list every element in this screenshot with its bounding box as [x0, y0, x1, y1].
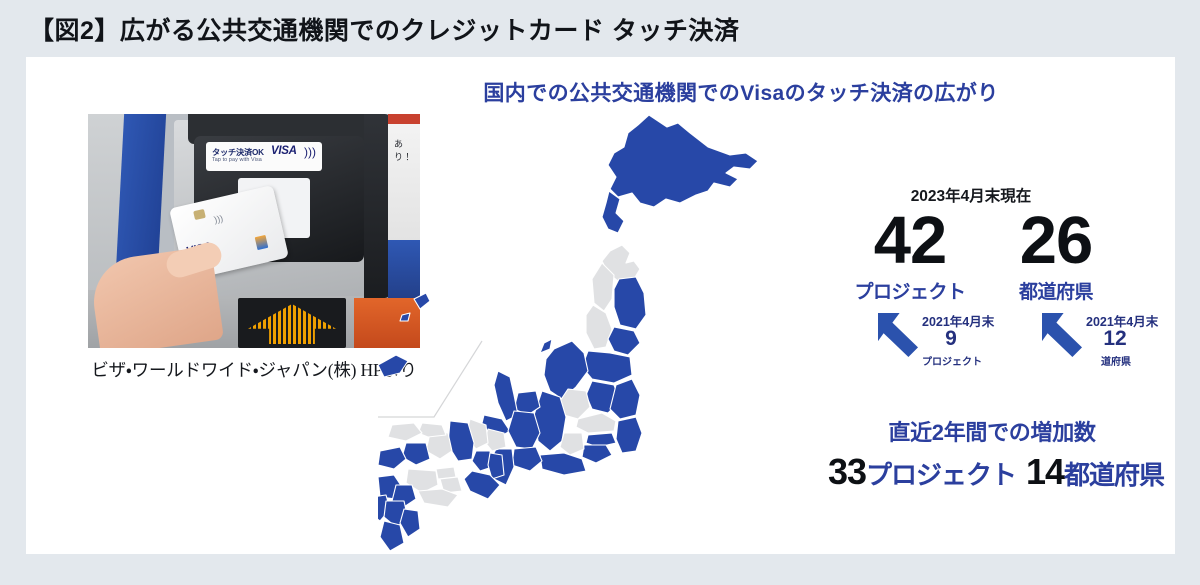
- growth-summary: 直近2年間での増加数 33プロジェクト14都道府県: [826, 415, 1166, 493]
- growth-arrow-icon: [878, 313, 918, 357]
- map-region-saitama: [576, 413, 616, 433]
- map-region-yamaguchi: [378, 447, 406, 469]
- japan-map-svg: [378, 103, 808, 553]
- baseline-projects-value: 9: [922, 327, 980, 351]
- map-region-yamanashi: [560, 433, 584, 455]
- map-region-miyazaki: [400, 509, 420, 537]
- map-region-kanagawa: [582, 445, 612, 463]
- stat-prefectures: 26 都道府県: [988, 207, 1124, 304]
- figure-card: 国内での公共交通機関でのVisaのタッチ決済の広がり タッチ決済OK Tap t…: [26, 57, 1175, 554]
- contactless-wave-icon: ))): [304, 145, 316, 159]
- baseline-prefectures-group: 2021年4月末 12 道府県: [1042, 311, 1194, 383]
- growth-projects-unit: プロジェクト: [866, 460, 1016, 490]
- baseline-projects-group: 2021年4月末 9 プロジェクト: [878, 311, 1030, 383]
- stat-projects-value: 42: [842, 207, 978, 275]
- map-region-gifu: [508, 411, 540, 449]
- map-region-hiroshima: [402, 443, 430, 465]
- map-region-yamagata: [586, 305, 612, 349]
- japan-map: [378, 103, 808, 553]
- growth-arrow-icon: [1042, 313, 1082, 357]
- map-region-hokkaido-south: [602, 191, 624, 233]
- growth-summary-title: 直近2年間での増加数: [826, 415, 1158, 447]
- map-region-fukushima: [582, 351, 632, 383]
- photo-sign-text-en: Tap to pay with Visa: [212, 157, 316, 163]
- photo-card-wave-icon: ))): [213, 213, 224, 225]
- map-region-kagoshima: [380, 521, 404, 551]
- map-region-aichi: [512, 447, 542, 471]
- growth-prefectures-unit: 都道府県: [1064, 460, 1164, 490]
- stat-projects: 42 プロジェクト: [842, 207, 978, 304]
- photo-sign-visa-logo: VISA: [271, 145, 297, 157]
- map-region-shizuoka: [540, 453, 586, 475]
- baseline-prefectures-unit: 道府県: [1080, 353, 1152, 368]
- map-region-iwate: [614, 277, 646, 329]
- map-region-sado: [540, 339, 552, 353]
- stat-projects-label: プロジェクト: [842, 277, 978, 304]
- growth-projects-value: 33: [828, 451, 866, 492]
- map-region-okinawa: [414, 293, 430, 309]
- map-region-miyagi: [608, 327, 640, 355]
- photo-figure: タッチ決済OK Tap to pay with Visa VISA ))) ⊛ …: [88, 114, 420, 382]
- stat-prefectures-label: 都道府県: [988, 277, 1124, 304]
- map-region-tottori: [418, 423, 446, 437]
- stat-prefectures-value: 26: [988, 207, 1124, 275]
- baseline-projects-unit: プロジェクト: [916, 353, 988, 368]
- page-title: 【図2】広がる公共交通機関でのクレジットカード タッチ決済: [29, 14, 1179, 48]
- growth-summary-line: 33プロジェクト14都道府県: [826, 451, 1166, 493]
- map-region-okinawa-small: [400, 313, 410, 321]
- photo-caption: ビザ・ワールドワイド・ジャパン(株) HPより: [88, 357, 420, 382]
- map-region-chiba: [616, 417, 642, 453]
- ticket-gate-photo: タッチ決済OK Tap to pay with Visa VISA ))) ⊛ …: [88, 114, 420, 348]
- map-inset-divider: [378, 341, 482, 417]
- map-region-hokkaido: [608, 115, 758, 207]
- map-region-shimane: [388, 423, 422, 441]
- baseline-prefectures-value: 12: [1086, 327, 1144, 351]
- map-region-okinawa-main: [378, 355, 408, 377]
- statistics-panel: 2023年4月末現在 42 プロジェクト 26 都道府県 2021年4月末 9 …: [826, 129, 1166, 529]
- growth-prefectures-value: 14: [1026, 451, 1064, 492]
